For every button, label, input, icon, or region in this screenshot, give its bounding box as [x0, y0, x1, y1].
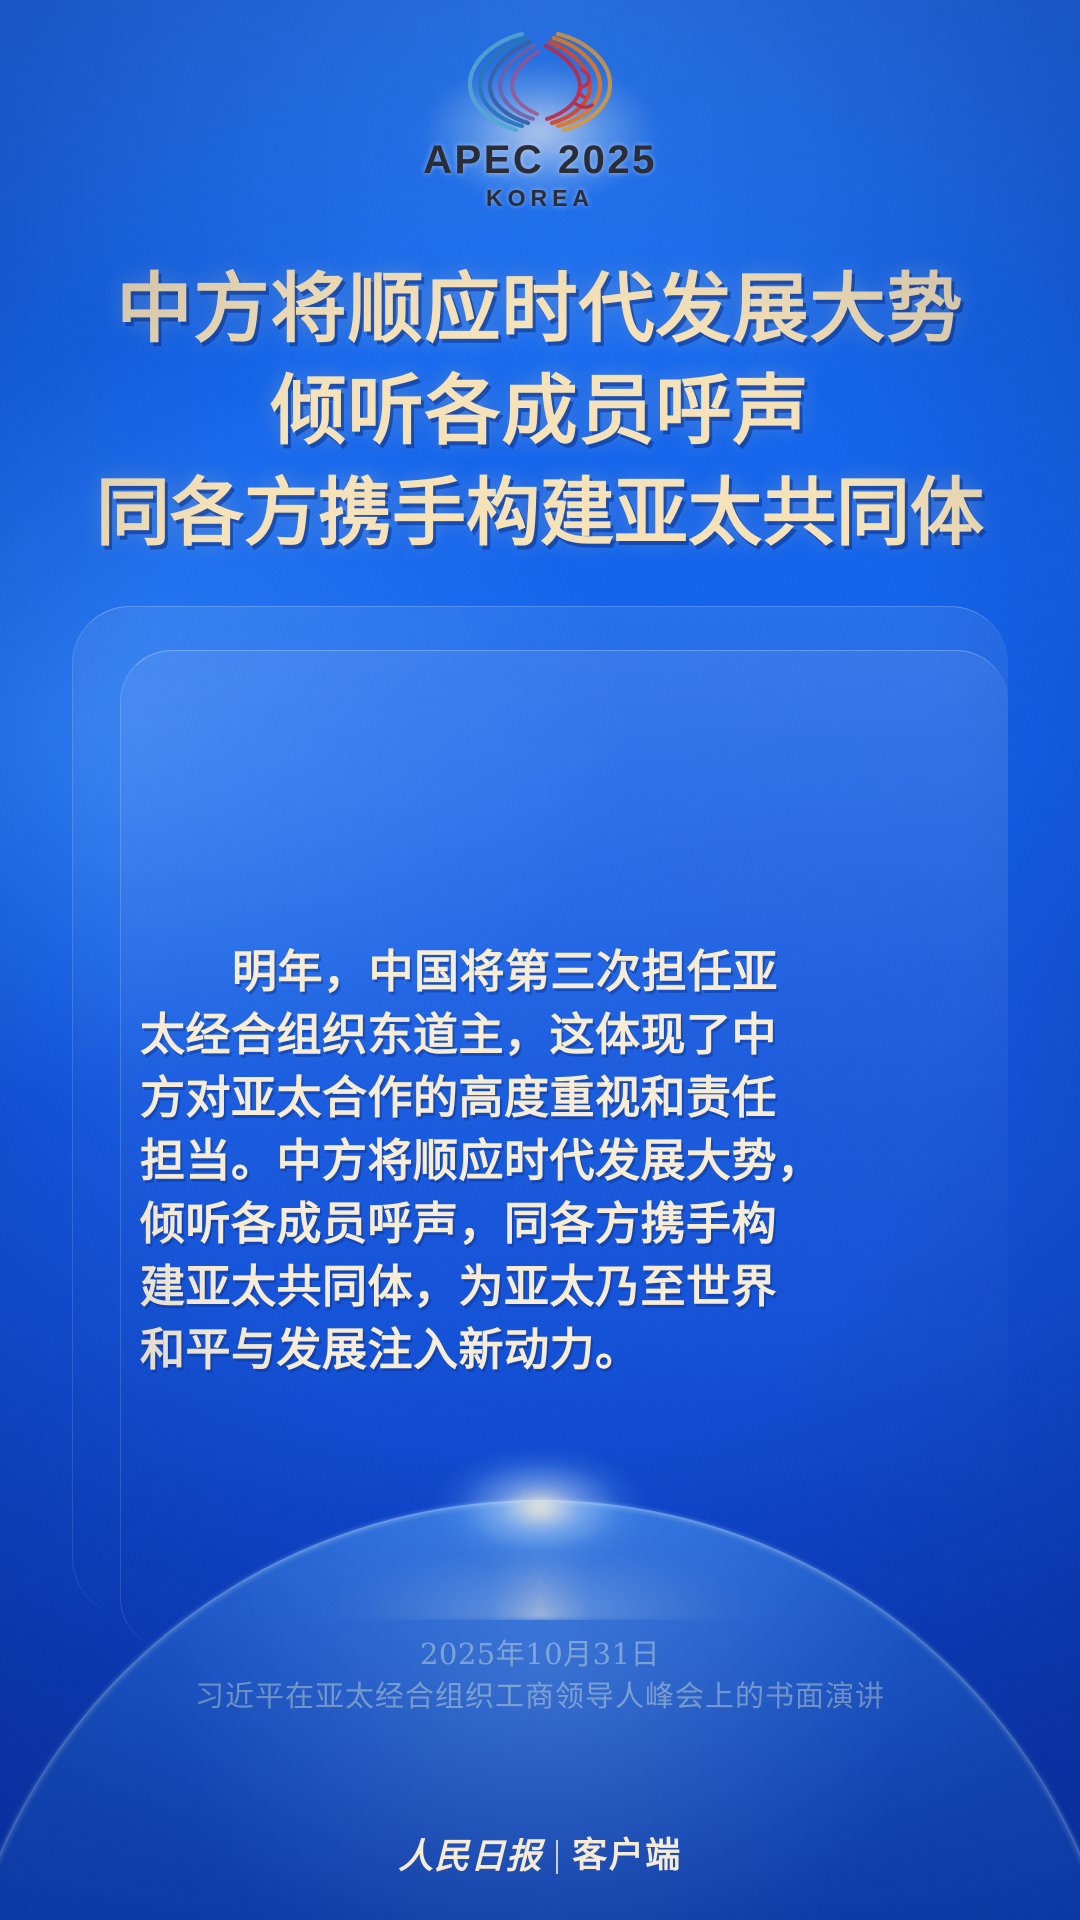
quote-line-4: 担当。中方将顺应时代发展大势， — [140, 1129, 760, 1192]
quote-body: 明年，中国将第三次担任亚 太经合组织东道主，这体现了中 方对亚太合作的高度重视和… — [140, 940, 760, 1381]
quote-line-3: 方对亚太合作的高度重视和责任 — [140, 1066, 760, 1129]
attribution-block: 2025年10月31日 习近平在亚太经合组织工商领导人峰会上的书面演讲 — [0, 1634, 1080, 1718]
quote-line-2: 太经合组织东道主，这体现了中 — [140, 1003, 760, 1066]
apec-logo-mark-icon — [430, 26, 650, 138]
quote-line-7: 和平与发展注入新动力。 — [140, 1318, 760, 1381]
headline-line-2: 倾听各成员呼声 — [0, 360, 1080, 462]
footer-product-name: 客户端 — [572, 1839, 682, 1874]
quote-line-5: 倾听各成员呼声，同各方携手构 — [140, 1192, 760, 1255]
apec-logo-title: APEC 2025 — [423, 140, 657, 180]
quote-line-1: 明年，中国将第三次担任亚 — [140, 940, 760, 1003]
attribution-date: 2025年10月31日 — [0, 1634, 1080, 1674]
footer-divider — [556, 1840, 558, 1874]
footer-logo: 人民日报 客户端 — [0, 1839, 1080, 1874]
footer-brand-name: 人民日报 — [398, 1839, 542, 1874]
headline-line-1: 中方将顺应时代发展大势 — [0, 258, 1080, 360]
apec-logo-block: APEC 2025 KOREA — [0, 26, 1080, 210]
poster-canvas: APEC 2025 KOREA 中方将顺应时代发展大势 倾听各成员呼声 同各方携… — [0, 0, 1080, 1920]
apec-logo-subtitle: KOREA — [486, 187, 594, 210]
attribution-source: 习近平在亚太经合组织工商领导人峰会上的书面演讲 — [0, 1674, 1080, 1718]
quote-line-6: 建亚太共同体，为亚太乃至世界 — [140, 1255, 760, 1318]
headline: 中方将顺应时代发展大势 倾听各成员呼声 同各方携手构建亚太共同体 — [0, 258, 1080, 564]
headline-line-3: 同各方携手构建亚太共同体 — [0, 462, 1080, 564]
